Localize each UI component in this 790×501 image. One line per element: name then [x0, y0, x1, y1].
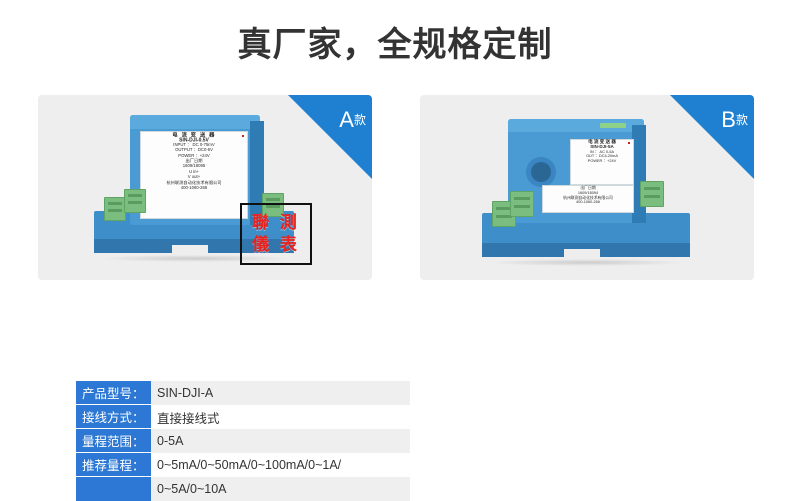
- corner-badge-letter-a: A: [339, 107, 354, 132]
- table-row: 推荐量程： 0~5mA/0~50mA/0~100mA/0~1A/: [76, 453, 410, 477]
- corner-badge-label-a: A款: [339, 109, 366, 131]
- spec-key: [76, 477, 151, 501]
- watermark-line-2: 儀 表: [252, 234, 300, 256]
- watermark-line-1: 聯 測: [252, 212, 300, 234]
- table-row: 产品型号： SIN-DJI-A: [76, 381, 410, 405]
- product-photo-b: 电 流 变 送 器 SIN-DJI-5A IN ： AC 0-5A OUT ：D…: [420, 95, 754, 280]
- table-row: 量程范围： 0-5A: [76, 429, 410, 453]
- corner-badge-suffix-b: 款: [736, 113, 748, 127]
- spec-table-a: 产品型号： SIN-DJI-A 接线方式： 直接接线式 量程范围： 0-5A 推…: [76, 381, 410, 501]
- spec-value: 直接接线式: [151, 405, 410, 429]
- spec-value: 0~5mA/0~50mA/0~100mA/0~1A/: [151, 453, 410, 477]
- device-nameplate-a: 电 流 变 送 器 SIN-DJI-0.5V INPUT ： DC 0-75mV…: [140, 131, 248, 219]
- spec-key: 推荐量程：: [76, 453, 151, 477]
- spec-key: 接线方式：: [76, 405, 151, 429]
- device-nameplate-b: 电 流 变 送 器 SIN-DJI-5A IN ： AC 0-5A OUT ：D…: [570, 139, 634, 185]
- device-body-top-a: [130, 115, 260, 129]
- watermark-a: 聯 測 儀 表: [240, 203, 312, 265]
- table-row: 0~5A/0~10A: [76, 477, 410, 501]
- spec-value: SIN-DJI-A: [151, 381, 410, 405]
- table-row: 接线方式： 直接接线式: [76, 405, 410, 429]
- spec-key: 量程范围：: [76, 429, 151, 453]
- terminal-block-a1: [104, 197, 126, 221]
- device-nameplate-secondary-b: 出厂日期 1609/18094 杭州联测自动化技术有限公司 400-1060-2…: [542, 185, 634, 213]
- nameplate-phone-a: 400-1060-266: [128, 185, 261, 192]
- din-rail-notch-a: [172, 245, 208, 253]
- spec-value: 0-5A: [151, 429, 410, 453]
- terminal-block-b3: [640, 181, 664, 207]
- din-rail-notch-b: [564, 249, 600, 257]
- nameplate-phone-b: 400-1060-266: [534, 200, 642, 206]
- product-column-b: 电 流 变 送 器 SIN-DJI-5A IN ： AC 0-5A OUT ：D…: [420, 95, 754, 280]
- product-photo-a: 电 流 变 送 器 SIN-DJI-0.5V INPUT ： DC 0-75mV…: [38, 95, 372, 280]
- spec-key: 产品型号：: [76, 381, 151, 405]
- corner-badge-label-b: B款: [721, 109, 748, 131]
- corner-badge-letter-b: B: [721, 107, 736, 132]
- through-hole-inner-b: [531, 162, 551, 182]
- spec-value: 0~5A/0~10A: [151, 477, 410, 501]
- page-title: 真厂家，全规格定制: [0, 25, 790, 65]
- status-led-b: [600, 123, 626, 128]
- device-image-b: 电 流 变 送 器 SIN-DJI-5A IN ： AC 0-5A OUT ：D…: [480, 113, 690, 268]
- corner-badge-triangle-a: [288, 95, 372, 179]
- terminal-block-a2: [124, 189, 146, 213]
- terminal-block-b2: [510, 191, 534, 217]
- product-column-a: 电 流 变 送 器 SIN-DJI-0.5V INPUT ： DC 0-75mV…: [38, 95, 372, 280]
- device-shadow-b: [488, 259, 684, 266]
- corner-badge-suffix-a: 款: [354, 113, 366, 127]
- product-comparison-page: 真厂家，全规格定制 电 流 变 送 器 SIN-DJI-0.5V INPUT ：…: [0, 0, 790, 418]
- nameplate-power-b: POWER ：+24V: [565, 159, 639, 165]
- corner-badge-a: A款: [288, 95, 372, 179]
